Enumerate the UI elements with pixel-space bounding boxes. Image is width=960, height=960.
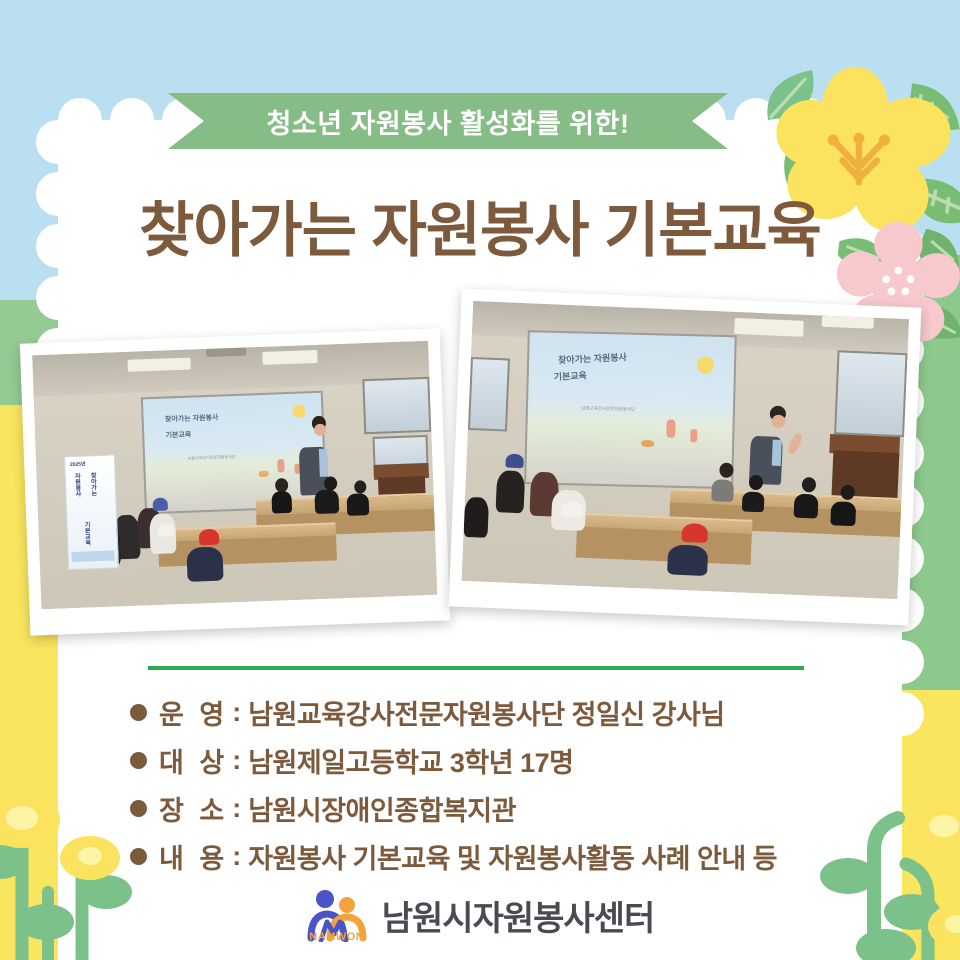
info-label: 대 상 [159, 741, 228, 780]
photo-classroom-left: 찾아가는 자원봉사 기본교육 남원교육강사전문자원봉사단 [20, 328, 450, 635]
screen-title-right: 찾아가는 자원봉사 [557, 353, 626, 366]
info-colon: : [232, 697, 241, 728]
info-label: 운 영 [159, 693, 228, 732]
ribbon-banner: 청소년 자원봉사 활성화를 위한! [168, 93, 728, 149]
bullet-icon [130, 800, 147, 817]
bullet-icon [130, 848, 147, 865]
ribbon-label: 청소년 자원봉사 활성화를 위한! [168, 93, 728, 149]
banner-line-2: 찾아가는 [88, 472, 98, 496]
list-item: 운 영 : 남원교육강사전문자원봉사단 정일신 강사님 [130, 688, 890, 736]
screen-title-left: 찾아가는 자원봉사 [165, 414, 219, 423]
info-label: 내 용 [159, 837, 228, 876]
banner-line-1: 2025년 [70, 461, 86, 469]
screen-subtitle-right: 남원교육강사전문자원봉사단 [581, 406, 635, 413]
info-label: 장 소 [159, 789, 228, 828]
organization-name: 남원시자원봉사센터 [382, 891, 655, 940]
screen-title-left-2: 기본교육 [165, 431, 191, 439]
info-value: 남원시장애인종합복지관 [248, 789, 516, 828]
info-colon: : [232, 745, 241, 776]
bullet-icon [130, 704, 147, 721]
photo-right-image: 찾아가는 자원봉사 기본교육 남원교육강사전문자원봉사단 [462, 301, 909, 599]
poster-root: 청소년 자원봉사 활성화를 위한! 찾아가는 자원봉사 기본교육 찾아가는 자원… [0, 0, 960, 960]
page-title: 찾아가는 자원봉사 기본교육 [0, 182, 960, 269]
list-item: 장 소 : 남원시장애인종합복지관 [130, 784, 890, 832]
info-colon: : [232, 841, 241, 872]
volunteer-center-logo-icon: NAMWON [306, 888, 368, 942]
banner-line-4: 기본교육 [82, 521, 92, 545]
photo-left-image: 찾아가는 자원봉사 기본교육 남원교육강사전문자원봉사단 [32, 341, 437, 609]
screen-title-right-2: 기본교육 [553, 372, 587, 383]
screen-subtitle-left: 남원교육강사전문자원봉사단 [188, 454, 236, 462]
photo-classroom-right: 찾아가는 자원봉사 기본교육 남원교육강사전문자원봉사단 [449, 289, 922, 626]
footer-logo: NAMWON 남원시자원봉사센터 [0, 888, 960, 942]
info-value: 남원제일고등학교 3학년 17명 [248, 741, 573, 780]
bullet-icon [130, 752, 147, 769]
logo-wordmark: NAMWON [306, 931, 368, 943]
section-divider [148, 666, 804, 670]
info-value: 남원교육강사전문자원봉사단 정일신 강사님 [248, 693, 724, 732]
info-colon: : [232, 793, 241, 824]
banner-line-3: 자원봉사 [72, 473, 82, 497]
info-list: 운 영 : 남원교육강사전문자원봉사단 정일신 강사님 대 상 : 남원제일고등… [130, 688, 890, 880]
info-value: 자원봉사 기본교육 및 자원봉사활동 사례 안내 등 [248, 837, 777, 876]
list-item: 대 상 : 남원제일고등학교 3학년 17명 [130, 736, 890, 784]
list-item: 내 용 : 자원봉사 기본교육 및 자원봉사활동 사례 안내 등 [130, 832, 890, 880]
